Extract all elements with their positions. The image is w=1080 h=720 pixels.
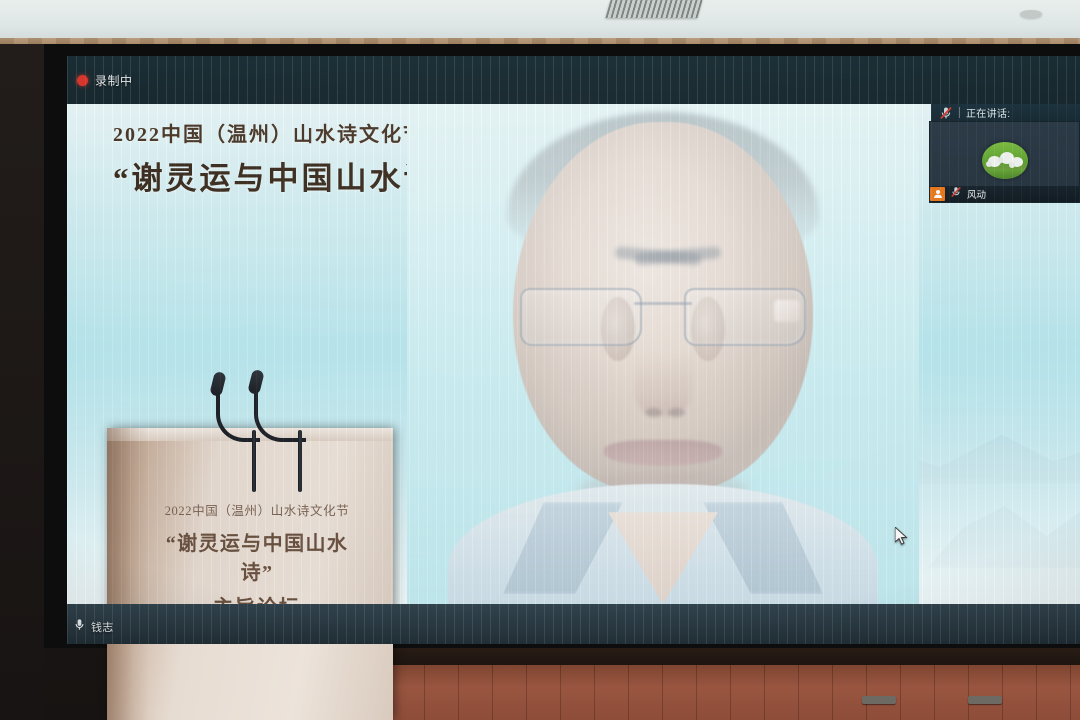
participant-tile[interactable]: 风动: [929, 121, 1080, 203]
participant-mic-muted-icon: [950, 185, 962, 203]
mic-muted-icon: [939, 106, 953, 120]
lectern-sign-line-1: 2022中国（温州）山水诗文化节: [150, 500, 364, 519]
floor-socket-plate: [968, 696, 1002, 704]
participant-name: 风动: [967, 187, 986, 201]
avatar-sheep-head: [986, 161, 992, 167]
floor-socket-plate: [862, 696, 896, 704]
stage-floor: [390, 665, 1080, 720]
record-dot-icon: [77, 75, 88, 86]
participant-avatar: [982, 142, 1028, 179]
meeting-top-bar: [67, 56, 1080, 104]
avatar-sheep-head: [1009, 162, 1015, 168]
lectern-sign: 2022中国（温州）山水诗文化节 “谢灵运与中国山水诗” 主旨论坛: [150, 500, 364, 620]
lectern-side-shadow: [107, 428, 149, 720]
host-person-icon: [930, 187, 945, 201]
local-participant-name: 钱志: [91, 619, 114, 635]
screenshot-root: 2022中国（温州）山水诗文化节 “谢灵运与中国山水诗”主: [0, 0, 1080, 720]
avatar-grass: [982, 169, 1028, 179]
active-speaker-bar: 正在讲话:: [931, 104, 1080, 121]
recording-label: 录制中: [95, 72, 133, 89]
ceiling-fixture: [1020, 10, 1042, 18]
mic-icon: [73, 618, 86, 636]
microphone-stem: [298, 430, 302, 492]
left-wall-panel: [0, 44, 44, 720]
participant-name-bar: 风动: [930, 186, 1079, 202]
meeting-bottom-bar[interactable]: [67, 604, 1080, 644]
avatar-sheep-head: [998, 157, 1004, 163]
active-speaker-label: 正在讲话:: [966, 105, 1010, 120]
lectern-sign-line-2: “谢灵运与中国山水诗”: [150, 527, 364, 585]
recording-indicator[interactable]: 录制中: [77, 72, 133, 89]
speaker-bar-divider: [959, 107, 960, 118]
video-scanline-texture: [407, 104, 919, 604]
remote-speaker-video[interactable]: [407, 104, 919, 604]
local-participant-label: 钱志: [73, 618, 114, 636]
stage-skirt: [390, 645, 1080, 667]
microphone-stem: [252, 430, 256, 492]
ceiling-vent: [605, 0, 702, 18]
ceiling: [0, 0, 1080, 40]
